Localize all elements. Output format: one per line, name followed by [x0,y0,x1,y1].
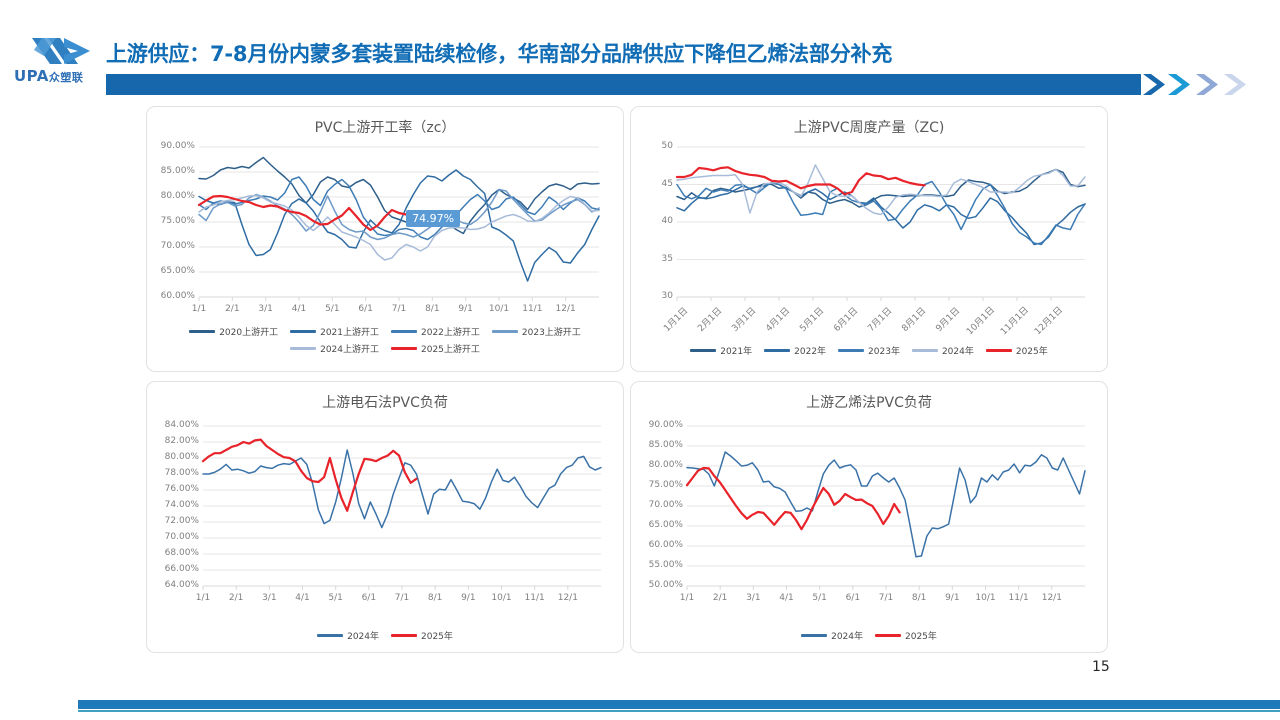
chart-plot-area: 50454035301月1日2月1日3月1日4月1日5月1日6月1日7月1日8月… [677,147,1085,297]
x-axis-tick-label: 7/1 [388,593,416,603]
legend-item[interactable]: 2024年 [912,344,974,357]
legend-swatch [875,634,901,637]
y-axis-tick-label: 80.00% [633,460,683,470]
x-axis-tick-label: 5月1日 [793,304,826,337]
y-axis-tick-label: 60.00% [149,291,195,301]
y-axis-tick-label: 65.00% [149,266,195,276]
y-axis-tick-label: 90.00% [149,141,195,151]
legend-label: 2025上游开工 [421,342,480,355]
legend-item[interactable]: 2023年 [838,344,900,357]
y-axis-tick-label: 85.00% [633,440,683,450]
x-axis-tick-label: 2/1 [706,593,734,603]
logo-text-cn: 众塑联 [49,71,84,84]
x-axis-tick-label: 3/1 [255,593,283,603]
chart-card-calcium-carbide-load: 上游电石法PVC负荷 84.00%82.00%80.00%78.00%76.00… [146,381,624,653]
chart-card-ethylene-load: 上游乙烯法PVC负荷 90.00%85.00%80.00%75.00%70.00… [630,381,1108,653]
y-axis-tick-label: 90.00% [633,420,683,430]
chevron-right-icon-4 [1224,74,1250,95]
footer-accent-bar [78,700,1280,709]
chart-title: 上游乙烯法PVC负荷 [631,392,1107,412]
header-accent-bar [106,74,1141,95]
y-axis-tick-label: 74.00% [149,500,199,510]
y-axis-tick-label: 85.00% [149,166,195,176]
legend-swatch [986,349,1012,352]
series-line [687,468,900,529]
x-axis-tick-label: 11/1 [521,593,549,603]
chevron-right-icon-2 [1168,74,1194,95]
x-axis-tick-label: 2/1 [218,304,246,314]
x-axis-tick-label: 5/1 [806,593,834,603]
x-axis-tick-label: 7月1日 [861,304,894,337]
x-axis-tick-label: 12/1 [552,304,580,314]
legend-label: 2022上游开工 [421,325,480,338]
chart-card-upstream-operating-rate: PVC上游开工率（zc） 90.00%85.00%80.00%75.00%70.… [146,106,624,372]
x-axis-tick-label: 8/1 [418,304,446,314]
x-axis-tick-label: 10/1 [485,304,513,314]
chevron-right-icon-1 [1143,74,1169,95]
y-axis-tick-label: 60.00% [633,540,683,550]
legend-label: 2025年 [1016,344,1048,357]
logo-mark-icon [30,34,92,68]
y-axis-tick-label: 80.00% [149,452,199,462]
x-axis-tick-label: 6/1 [355,593,383,603]
chart-title: 上游电石法PVC负荷 [147,392,623,412]
x-axis-tick-label: 2/1 [222,593,250,603]
upa-logo: UPA众塑联 [14,34,106,86]
x-axis-tick-label: 8/1 [905,593,933,603]
legend-label: 2024年 [942,344,974,357]
legend-swatch [801,634,827,637]
series-line [199,177,599,240]
y-axis-tick-label: 64.00% [149,580,199,590]
logo-wordmark: UPA众塑联 [14,67,106,85]
chart-svg [687,426,1085,586]
legend-swatch [290,330,316,333]
x-axis-tick-label: 11月1日 [997,304,1030,337]
chart-legend: 2020上游开工2021上游开工2022上游开工2023上游开工2024上游开工… [147,325,623,355]
y-axis-tick-label: 50 [647,141,673,151]
legend-item[interactable]: 2022上游开工 [391,325,480,338]
x-axis-tick-label: 3/1 [739,593,767,603]
x-axis-tick-label: 5/1 [322,593,350,603]
legend-item[interactable]: 2021年 [690,344,752,357]
y-axis-tick-label: 68.00% [149,548,199,558]
legend-item[interactable]: 2022年 [764,344,826,357]
legend-swatch [764,349,790,352]
x-axis-tick-label: 1/1 [185,304,213,314]
legend-label: 2020上游开工 [219,325,278,338]
x-axis-tick-label: 11/1 [1005,593,1033,603]
y-axis-tick-label: 35 [647,254,673,264]
x-axis-tick-label: 2月1日 [691,304,724,337]
x-axis-tick-label: 12/1 [1038,593,1066,603]
x-axis-tick-label: 9/1 [454,593,482,603]
legend-item[interactable]: 2020上游开工 [189,325,278,338]
logo-text-en: UPA [14,67,49,85]
x-axis-tick-label: 6/1 [839,593,867,603]
legend-label: 2023上游开工 [522,325,581,338]
legend-label: 2025年 [421,629,453,642]
page-number: 15 [1092,659,1110,675]
x-axis-tick-label: 12/1 [554,593,582,603]
x-axis-tick-label: 8/1 [421,593,449,603]
legend-swatch [492,330,518,333]
legend-label: 2025年 [905,629,937,642]
legend-label: 2022年 [794,344,826,357]
chart-plot-area: 90.00%85.00%80.00%75.00%70.00%65.00%60.0… [687,426,1085,586]
x-axis-tick-label: 9/1 [938,593,966,603]
x-axis-tick-label: 1/1 [189,593,217,603]
legend-swatch [838,349,864,352]
x-axis-tick-label: 4/1 [289,593,317,603]
legend-label: 2024年 [347,629,379,642]
legend-swatch [391,347,417,350]
x-axis-tick-label: 12月1日 [1031,304,1064,337]
chart-card-weekly-output: 上游PVC周度产量（ZC) 50454035301月1日2月1日3月1日4月1日… [630,106,1108,372]
legend-swatch [189,330,215,333]
data-label-callout: 74.97% [406,210,460,227]
series-line [687,452,1085,557]
legend-item[interactable]: 2023上游开工 [492,325,581,338]
legend-label: 2021年 [720,344,752,357]
y-axis-tick-label: 84.00% [149,420,199,430]
chart-legend: 2021年2022年2023年2024年2025年 [631,344,1107,357]
y-axis-tick-label: 76.00% [149,484,199,494]
x-axis-tick-label: 6/1 [352,304,380,314]
chart-svg [203,426,601,586]
x-axis-tick-label: 4/1 [773,593,801,603]
y-axis-tick-label: 30 [647,291,673,301]
chart-title: PVC上游开工率（zc） [147,117,623,137]
y-axis-tick-label: 75.00% [149,216,195,226]
legend-item[interactable]: 2025年 [391,629,453,642]
chart-plot-area: 84.00%82.00%80.00%78.00%76.00%74.00%72.0… [203,426,601,586]
x-axis-tick-label: 9月1日 [929,304,962,337]
y-axis-tick-label: 70.00% [149,241,195,251]
legend-swatch [391,330,417,333]
x-axis-tick-label: 8月1日 [895,304,928,337]
legend-label: 2024年 [831,629,863,642]
y-axis-tick-label: 50.00% [633,580,683,590]
legend-swatch [690,349,716,352]
y-axis-tick-label: 80.00% [149,191,195,201]
y-axis-tick-label: 78.00% [149,468,199,478]
chevron-right-icon-3 [1196,74,1222,95]
y-axis-tick-label: 40 [647,216,673,226]
legend-item[interactable]: 2024年 [801,629,863,642]
slide-header: UPA众塑联 上游供应：7-8月份内蒙多套装置陆续检修，华南部分品牌供应下降但乙… [0,0,1280,100]
legend-item[interactable]: 2025年 [986,344,1048,357]
legend-item[interactable]: 2024年 [317,629,379,642]
y-axis-tick-label: 55.00% [633,560,683,570]
page-title: 上游供应：7-8月份内蒙多套装置陆续检修，华南部分品牌供应下降但乙烯法部分补充 [106,38,1136,72]
chart-plot-area: 90.00%85.00%80.00%75.00%70.00%65.00%60.0… [199,147,599,297]
x-axis-tick-label: 1月1日 [657,304,690,337]
footer-accent-line [78,710,1280,712]
x-axis-tick-label: 11/1 [518,304,546,314]
legend-label: 2023年 [868,344,900,357]
y-axis-tick-label: 66.00% [149,564,199,574]
x-axis-tick-label: 3/1 [252,304,280,314]
x-axis-tick-label: 10/1 [972,593,1000,603]
legend-label: 2021上游开工 [320,325,379,338]
chart-svg [677,147,1085,297]
x-axis-tick-label: 4/1 [285,304,313,314]
chart-legend: 2024年2025年 [147,629,623,642]
x-axis-tick-label: 5/1 [318,304,346,314]
legend-swatch [391,634,417,637]
chart-svg [199,147,599,297]
legend-swatch [912,349,938,352]
y-axis-tick-label: 65.00% [633,520,683,530]
x-axis-tick-label: 7/1 [385,304,413,314]
legend-item[interactable]: 2021上游开工 [290,325,379,338]
x-axis-tick-label: 4月1日 [759,304,792,337]
legend-item[interactable]: 2025年 [875,629,937,642]
legend-swatch [317,634,343,637]
x-axis-tick-label: 3月1日 [725,304,758,337]
legend-item[interactable]: 2025上游开工 [391,342,480,355]
y-axis-tick-label: 45 [647,179,673,189]
legend-label: 2024上游开工 [320,342,379,355]
y-axis-tick-label: 72.00% [149,516,199,526]
x-axis-tick-label: 6月1日 [827,304,860,337]
x-axis-tick-label: 1/1 [673,593,701,603]
y-axis-tick-label: 70.00% [149,532,199,542]
x-axis-tick-label: 7/1 [872,593,900,603]
legend-item[interactable]: 2024上游开工 [290,342,379,355]
x-axis-tick-label: 9/1 [452,304,480,314]
y-axis-tick-label: 82.00% [149,436,199,446]
y-axis-tick-label: 75.00% [633,480,683,490]
series-line [199,170,599,281]
chart-legend: 2024年2025年 [631,629,1107,642]
x-axis-tick-label: 10月1日 [963,304,996,337]
x-axis-tick-label: 10/1 [488,593,516,603]
y-axis-tick-label: 70.00% [633,500,683,510]
chart-title: 上游PVC周度产量（ZC) [631,117,1107,137]
legend-swatch [290,347,316,350]
